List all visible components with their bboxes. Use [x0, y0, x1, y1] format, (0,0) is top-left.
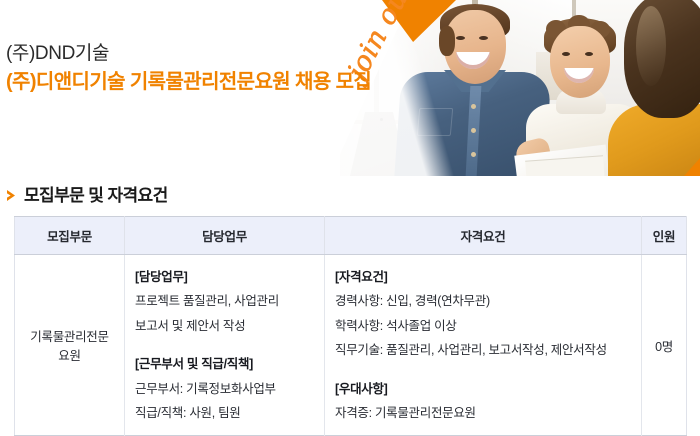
laptop-camera-dot: [380, 118, 383, 121]
table-row: 기록물관리전문요원 [담당업무] 프로젝트 품질관리, 사업관리 보고서 및 제…: [15, 255, 687, 436]
column-header-count: 인원: [642, 217, 687, 255]
person-three-hair-highlight: [636, 6, 666, 86]
table-header-row: 모집부문 담당업무 자격요건 인원: [15, 217, 687, 255]
company-name: (주)DND기술: [6, 42, 386, 66]
person-one-eye: [479, 36, 488, 40]
shirt-button: [471, 152, 476, 157]
person-two-eye: [562, 52, 570, 56]
qualification-line: 자격증: 기록물관리전문요원: [335, 401, 631, 425]
section-heading-label: 모집부문 및 자격요건: [24, 187, 168, 204]
duty-line: 프로젝트 품질관리, 사업관리: [135, 289, 314, 313]
recruitment-table: 모집부문 담당업무 자격요건 인원 기록물관리전문요원 [담당업무] 프로젝트 …: [14, 216, 687, 436]
qualification-group-label: [자격요건]: [335, 265, 631, 289]
cell-count: 0명: [642, 255, 687, 436]
spacer: [335, 363, 631, 377]
jobs-table-wrapper: 모집부문 담당업무 자격요건 인원 기록물관리전문요원 [담당업무] 프로젝트 …: [0, 216, 700, 436]
shirt-button: [471, 128, 476, 133]
column-header-duty: 담당업무: [125, 217, 325, 255]
column-header-part: 모집부문: [15, 217, 125, 255]
duty-group-label: [근무부서 및 직급/직책]: [135, 352, 314, 376]
qualification-line: 경력사항: 신입, 경력(연차무관): [335, 289, 631, 313]
qualification-line: 직무기술: 품질관리, 사업관리, 보고서작성, 제안서작성: [335, 338, 631, 362]
banner-text-block: (주)DND기술 (주)디앤디기술 기록물관리전문요원 채용 모집: [6, 42, 386, 96]
cell-duty: [담당업무] 프로젝트 품질관리, 사업관리 보고서 및 제안서 작성 [근무부…: [125, 255, 325, 436]
page-title: (주)디앤디기술 기록물관리전문요원 채용 모집: [6, 68, 386, 96]
duty-group-label: [담당업무]: [135, 265, 314, 289]
duty-line: 보고서 및 제안서 작성: [135, 314, 314, 338]
recruitment-banner: join our team (주)DND기술 (주)디앤디기술 기록물관리전문요…: [0, 0, 700, 176]
chevron-right-icon: [6, 189, 17, 202]
duty-line: 근무부서: 기록정보화사업부: [135, 377, 314, 401]
qualification-line: 학력사항: 석사졸업 이상: [335, 314, 631, 338]
person-one-hair-side: [439, 26, 455, 56]
duty-line: 직급/직책: 사원, 팀원: [135, 401, 314, 425]
cell-part: 기록물관리전문요원: [15, 255, 125, 436]
column-header-qualification: 자격요건: [325, 217, 642, 255]
shirt-pocket: [417, 108, 453, 136]
section-heading: 모집부문 및 자격요건: [0, 176, 700, 216]
shirt-button: [471, 104, 476, 109]
person-two-head: [550, 26, 610, 98]
cell-qualification: [자격요건] 경력사항: 신입, 경력(연차무관) 학력사항: 석사졸업 이상 …: [325, 255, 642, 436]
qualification-group-label: [우대사항]: [335, 377, 631, 401]
person-one-eye: [456, 36, 465, 40]
person-two-eye: [585, 52, 593, 56]
spacer: [135, 338, 314, 352]
